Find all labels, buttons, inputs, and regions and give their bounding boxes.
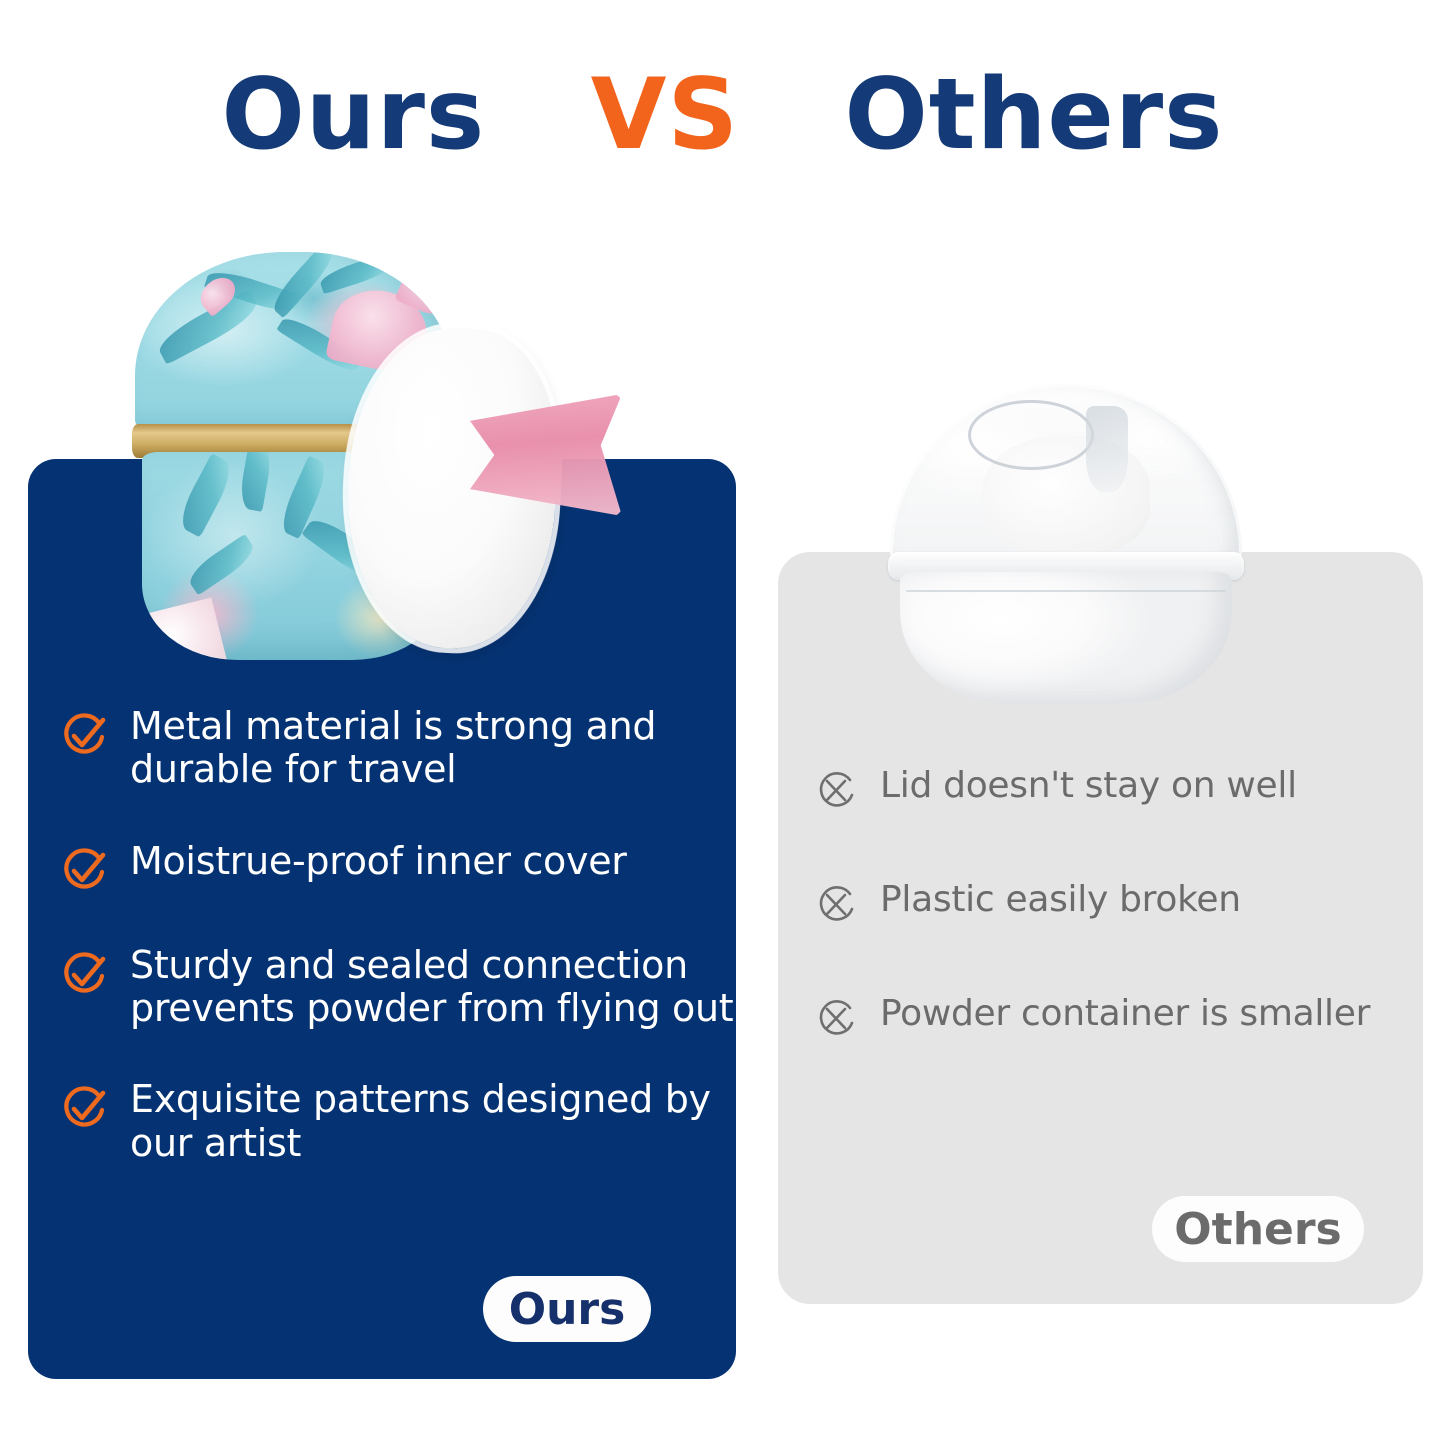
list-item: Powder container is smaller [812,993,1412,1043]
list-item-label: Moistrue-proof inner cover [130,840,627,883]
page-title-others: Others [844,58,1223,172]
list-item: Metal material is strong and durable for… [58,705,738,792]
list-item-label: Lid doesn't stay on well [880,765,1297,806]
list-item: Moistrue-proof inner cover [58,840,738,896]
list-item: Exquisite patterns designed by our artis… [58,1078,738,1165]
ours-product-image [120,252,720,672]
x-circle-icon [812,881,860,929]
jar-dome-ring [968,400,1094,470]
ours-badge: Ours [483,1276,651,1342]
others-product-image [866,384,1266,704]
list-item: Lid doesn't stay on well [812,765,1412,815]
check-circle-icon [58,1082,110,1134]
page-title-ours: Ours [222,58,486,172]
page-title: Ours VS Others [0,66,1445,164]
others-drawback-list: Lid doesn't stay on well Plastic easily … [812,765,1412,1107]
x-circle-icon [812,995,860,1043]
check-circle-icon [58,948,110,1000]
jar-dome-knob [1086,406,1128,492]
jar-clear-dome-lid [890,384,1242,566]
list-item-label: Exquisite patterns designed by our artis… [130,1078,738,1165]
x-circle-icon [812,767,860,815]
jar-base-seam [906,590,1226,592]
list-item: Sturdy and sealed connection prevents po… [58,944,738,1031]
list-item-label: Sturdy and sealed connection prevents po… [130,944,738,1031]
check-circle-icon [58,709,110,761]
list-item-label: Metal material is strong and durable for… [130,705,738,792]
check-circle-icon [58,844,110,896]
list-item-label: Plastic easily broken [880,879,1241,920]
others-badge: Others [1152,1196,1364,1262]
ours-feature-list: Metal material is strong and durable for… [58,705,738,1213]
list-item: Plastic easily broken [812,879,1412,929]
list-item-label: Powder container is smaller [880,993,1370,1034]
page-title-vs: VS [591,58,739,172]
